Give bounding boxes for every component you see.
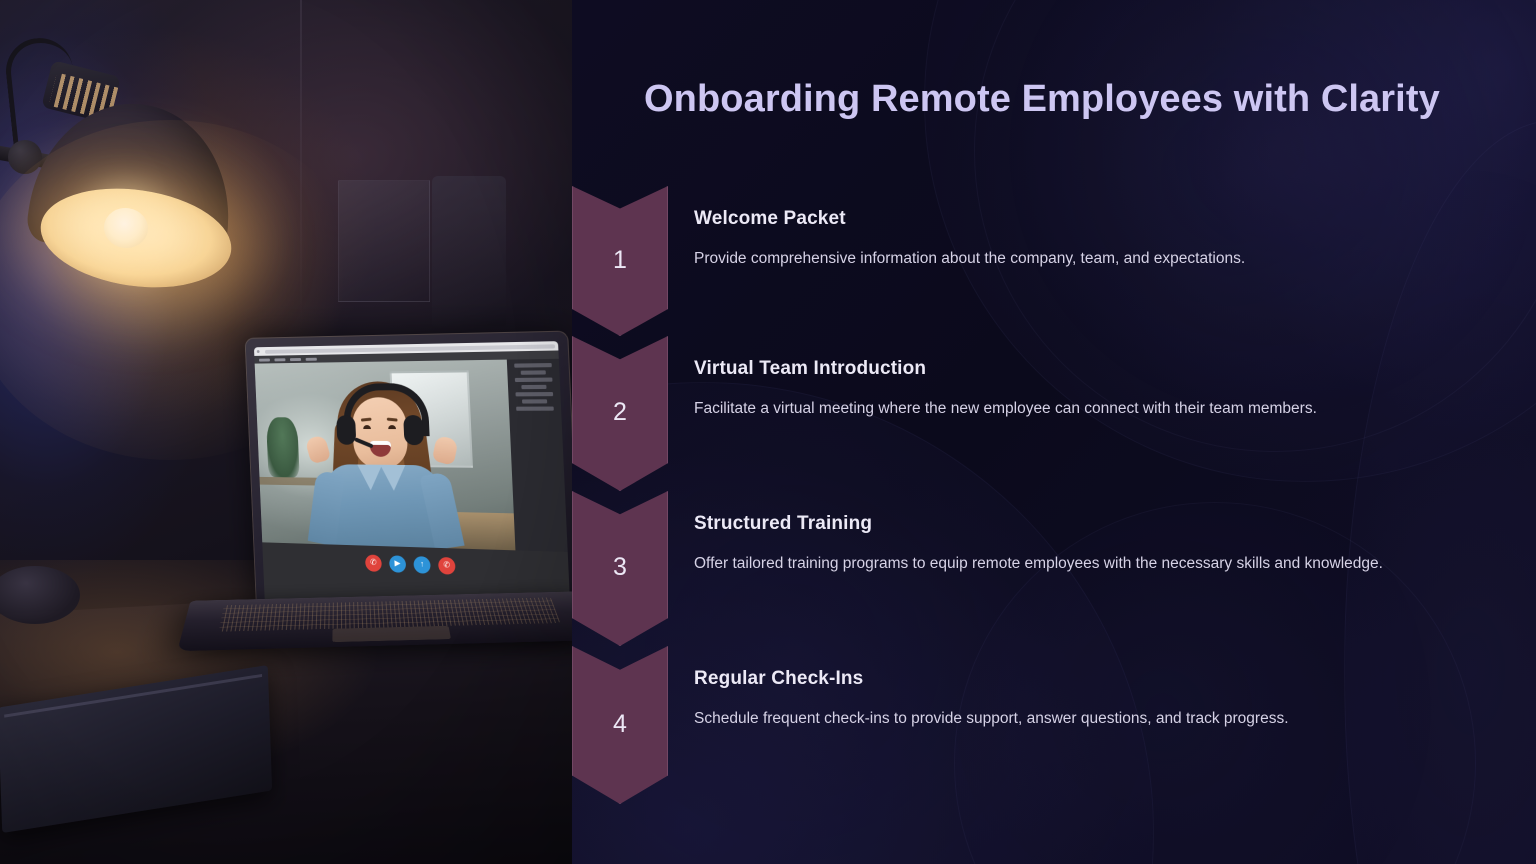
menu-item (274, 358, 285, 361)
lamp-joint (8, 140, 42, 174)
step-heading: Welcome Packet (694, 208, 1536, 230)
step-number-chevron: 1 (572, 186, 668, 336)
list-item: 1 Welcome Packet Provide comprehensive i… (572, 186, 1536, 336)
phone-icon: ✆ (443, 561, 450, 569)
background-plant (266, 417, 300, 477)
laptop: ✆ ▶ ↑ ✆ (192, 334, 572, 686)
steps-list: 1 Welcome Packet Provide comprehensive i… (572, 186, 1536, 804)
video-toggle-button[interactable]: ▶ (389, 555, 406, 573)
shirt-collar-left (357, 464, 383, 490)
step-text: Welcome Packet Provide comprehensive inf… (668, 186, 1536, 273)
sidebar-row (514, 378, 553, 383)
presentation-slide: ✆ ▶ ↑ ✆ Onboarding Remote Employees with… (0, 0, 1536, 864)
step-number: 2 (613, 398, 627, 429)
step-description: Provide comprehensive information about … (694, 246, 1454, 273)
list-item: 2 Virtual Team Introduction Facilitate a… (572, 336, 1536, 491)
laptop-lid: ✆ ▶ ↑ ✆ (245, 331, 572, 633)
sidebar-row (522, 399, 548, 403)
step-number-chevron: 2 (572, 336, 668, 491)
sidebar-row (515, 392, 554, 396)
headset-earcup-left (336, 415, 356, 445)
headset-earcup-right (403, 415, 424, 445)
browser-dot-icon (257, 350, 260, 353)
list-item: 4 Regular Check-Ins Schedule frequent ch… (572, 646, 1536, 804)
mouth (370, 441, 392, 457)
menu-item (290, 358, 301, 361)
sidebar-row (516, 407, 555, 411)
step-number-chevron: 3 (572, 491, 668, 646)
step-text: Regular Check-Ins Schedule frequent chec… (668, 646, 1536, 733)
step-heading: Virtual Team Introduction (694, 358, 1536, 380)
step-heading: Structured Training (694, 513, 1536, 535)
laptop-trackpad (332, 626, 451, 642)
step-number: 3 (613, 553, 627, 584)
step-text: Virtual Team Introduction Facilitate a v… (668, 336, 1536, 423)
step-description: Schedule frequent check-ins to provide s… (694, 706, 1454, 733)
participant-sidebar (507, 359, 568, 552)
step-number: 1 (613, 246, 627, 277)
laptop-screen: ✆ ▶ ↑ ✆ (254, 341, 571, 618)
wall-edge (300, 0, 302, 330)
content-panel: Onboarding Remote Employees with Clarity… (572, 0, 1536, 864)
video-call-participant (306, 375, 458, 549)
hand-left (305, 435, 332, 465)
laptop-base (177, 591, 572, 651)
page-title: Onboarding Remote Employees with Clarity (644, 73, 1444, 125)
screen-share-button[interactable]: ↑ (413, 556, 430, 574)
wall-picture-frame (338, 180, 430, 302)
remote-video-call-photo: ✆ ▶ ↑ ✆ (0, 0, 572, 864)
phone-icon: ✆ (370, 559, 377, 567)
background-shelf-object (432, 176, 506, 326)
sidebar-row (521, 385, 547, 389)
end-call-button-right[interactable]: ✆ (438, 556, 456, 574)
camera-icon: ▶ (394, 559, 400, 567)
step-description: Facilitate a virtual meeting where the n… (694, 396, 1454, 423)
menu-item (259, 358, 270, 361)
sidebar-row (514, 363, 553, 368)
step-description: Offer tailored training programs to equi… (694, 551, 1454, 578)
step-number: 4 (613, 710, 627, 741)
step-number-chevron: 4 (572, 646, 668, 804)
video-call-area (255, 359, 568, 552)
list-item: 3 Structured Training Offer tailored tra… (572, 491, 1536, 646)
sidebar-row (520, 370, 546, 374)
share-icon: ↑ (420, 560, 424, 568)
video-feed (255, 360, 516, 551)
shirt-collar-right (380, 465, 406, 491)
step-heading: Regular Check-Ins (694, 668, 1536, 690)
desk-lamp (0, 0, 260, 330)
step-text: Structured Training Offer tailored train… (668, 491, 1536, 578)
menu-item (306, 357, 317, 360)
end-call-button-left[interactable]: ✆ (365, 554, 382, 571)
